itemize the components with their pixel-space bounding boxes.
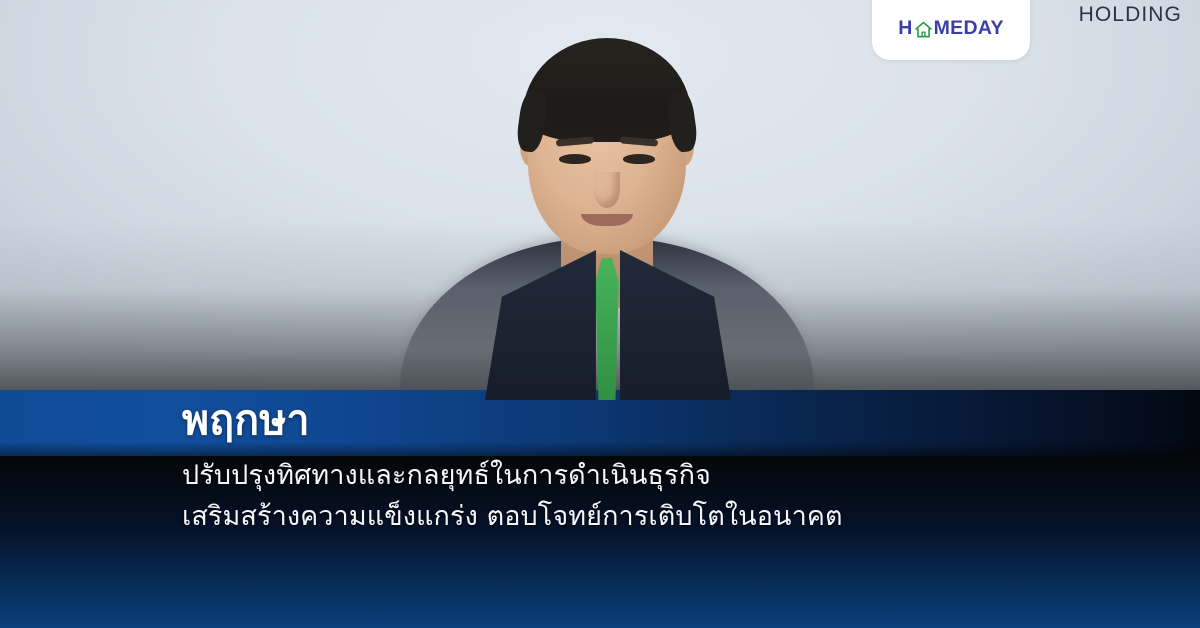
portrait-hair [523,38,691,142]
logo-text-after: MEDAY [934,17,1004,40]
subtitle-line-2: เสริมสร้างความแข็งแกร่ง ตอบโจทย์การเติบโ… [182,501,843,533]
executive-portrait [392,0,822,400]
portrait-lapel-left [484,250,596,400]
portrait-nose [594,172,620,208]
brand-wordmark: HOLDING [1079,3,1182,27]
portrait-eye-right [623,154,655,164]
homeday-logo-card[interactable]: H MEDAY [872,0,1030,60]
house-icon [914,20,933,39]
portrait-eye-left [559,154,591,164]
logo-text-before: H [898,17,912,40]
page-title: พฤกษา [182,398,310,444]
homeday-logo: H MEDAY [898,17,1004,40]
banner-canvas: HOLDING H MEDAY พฤกษา ปรับปรุงทิศทางและก… [0,0,1200,628]
subtitle-line-1: ปรับปรุงทิศทางและกลยุทธ์ในการดำเนินธุรกิ… [182,460,711,492]
hero-photo-area [0,0,1200,400]
portrait-lapel-right [620,250,732,400]
